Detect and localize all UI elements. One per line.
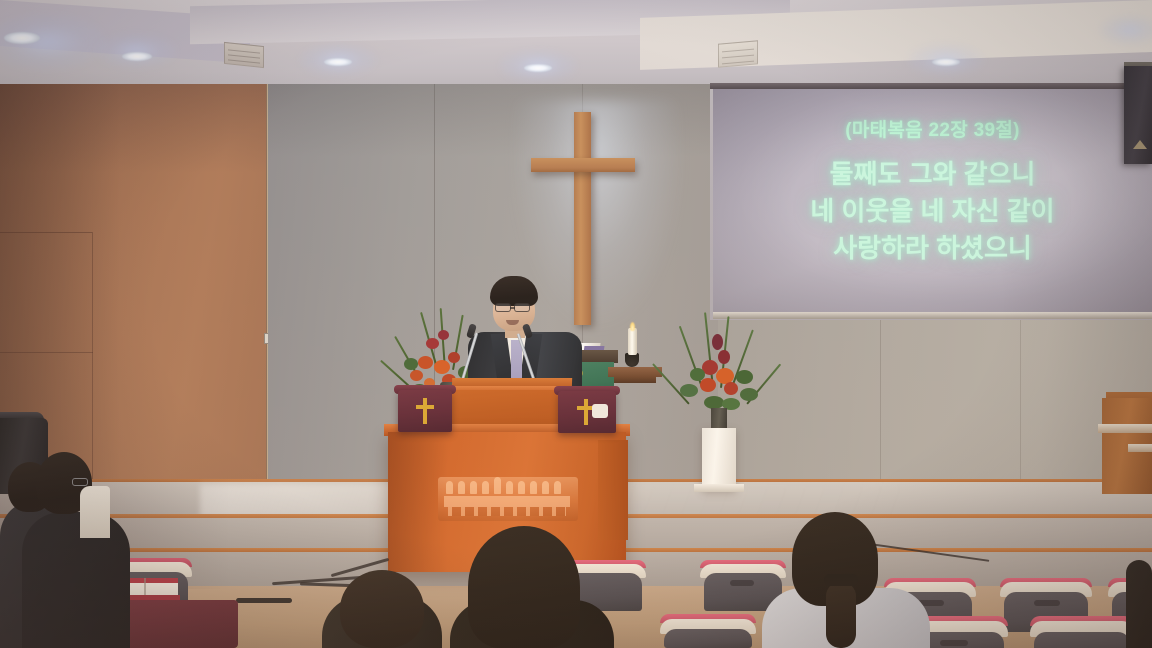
congregant-head-long-hair	[468, 526, 580, 648]
wall-left-seam-a	[0, 232, 92, 233]
choir-pew-seat-2	[1128, 444, 1152, 452]
congregant-head	[340, 570, 424, 648]
wooden-cross-crossbar	[531, 158, 635, 172]
eyeglasses-bridge-icon	[510, 307, 515, 309]
verse-line-1: 둘째도 그와 같으니	[830, 156, 1036, 193]
downlight-glow-2	[96, 34, 176, 68]
eyeglasses-icon	[72, 478, 88, 486]
congregant-light-jacket	[80, 486, 110, 538]
pulpit-side-panel	[598, 440, 628, 540]
wall-left-seam-vertical	[92, 232, 93, 488]
candle-flame-icon	[630, 322, 635, 331]
chair-handle	[1034, 600, 1060, 606]
hair-tie	[824, 574, 858, 586]
chair-handle	[730, 580, 754, 586]
choir-pew-seat-1	[1098, 424, 1152, 433]
cable-connector	[236, 598, 292, 603]
flower-pedestal	[702, 428, 736, 490]
downlight-2-icon	[122, 52, 152, 61]
altar-candle	[628, 328, 637, 355]
congregant-shoulders	[22, 512, 130, 648]
verse-line-3: 사랑하라 하셨으니	[833, 230, 1032, 267]
wall-speaker-icon	[1124, 66, 1152, 164]
candle-shelf-bracket	[614, 377, 656, 383]
verse-line-2: 네 이웃을 네 자신 같이	[810, 193, 1054, 230]
congregation-chair[interactable]	[664, 629, 752, 648]
downlight-4-icon	[524, 64, 552, 72]
projection-screen: (마태복음 22장 39절) 둘째도 그와 같으니 네 이웃을 네 자신 같이 …	[713, 89, 1152, 314]
congregation-chair[interactable]	[1034, 632, 1130, 648]
chair-cushion-burgundy	[118, 600, 238, 648]
white-cloth-on-platform	[592, 404, 608, 418]
downlight-5-icon	[932, 58, 960, 66]
chair-handle	[940, 640, 968, 646]
ceiling-vent-1	[224, 42, 264, 68]
eyeglasses-right-lens-icon	[514, 303, 530, 312]
congregant-shoulders	[1126, 560, 1152, 648]
downlight-3-icon	[324, 58, 352, 66]
projection-screen-bottom-bar	[713, 312, 1152, 319]
preacher-hair	[490, 276, 538, 306]
ceiling-vent-2	[718, 40, 758, 67]
candle-holder	[625, 353, 639, 367]
eyeglasses-left-lens-icon	[495, 303, 511, 312]
downlight-1-icon	[4, 32, 40, 44]
projection-screen-content: (마태복음 22장 39절) 둘째도 그와 같으니 네 이웃을 네 자신 같이 …	[713, 89, 1152, 314]
offering-box-left	[398, 390, 452, 432]
downlight-glow-6	[1100, 16, 1152, 44]
church-sanctuary-photo: (마태복음 22장 39절) 둘째도 그와 같으니 네 이웃을 네 자신 같이 …	[0, 0, 1152, 648]
candle-shelf	[608, 367, 662, 377]
wall-left-seam-b	[0, 352, 93, 353]
verse-reference: (마태복음 22장 39절)	[845, 115, 1020, 142]
flower-pedestal-base	[694, 484, 744, 492]
congregant-ponytail	[826, 582, 856, 648]
wall-speaker-cone-icon	[1133, 140, 1147, 149]
last-supper-relief-carving	[438, 477, 578, 521]
